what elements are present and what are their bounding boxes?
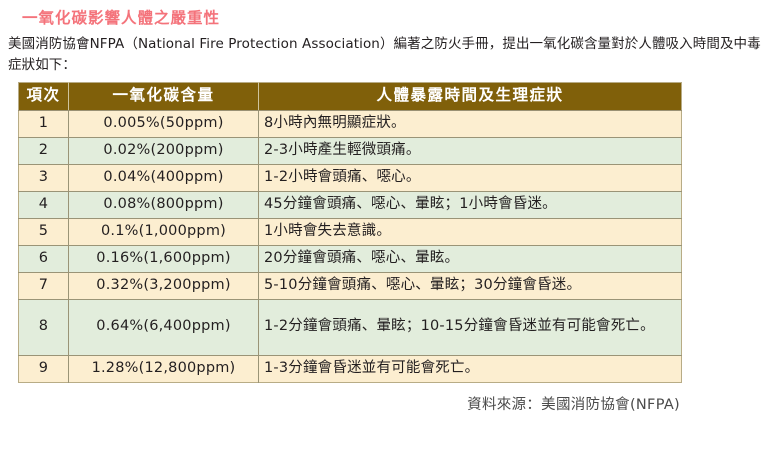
table-row: 8 0.64%(6,400ppm) 1-2分鐘會頭痛、暈眩；10-15分鐘會昏迷… — [19, 299, 682, 355]
table-header-row: 項次 一氧化碳含量 人體暴露時間及生理症狀 — [19, 83, 682, 110]
column-header-symptoms: 人體暴露時間及生理症狀 — [259, 83, 682, 110]
cell-symptoms: 1小時會失去意識。 — [259, 218, 682, 245]
cell-amount: 0.08%(800ppm) — [69, 191, 259, 218]
table-row: 2 0.02%(200ppm) 2-3小時產生輕微頭痛。 — [19, 137, 682, 164]
cell-amount: 0.02%(200ppm) — [69, 137, 259, 164]
cell-index: 1 — [19, 110, 69, 137]
cell-index: 3 — [19, 164, 69, 191]
cell-amount: 0.005%(50ppm) — [69, 110, 259, 137]
cell-index: 8 — [19, 299, 69, 355]
table-row: 7 0.32%(3,200ppm) 5-10分鐘會頭痛、噁心、暈眩；30分鐘會昏… — [19, 272, 682, 299]
document-page: 一氧化碳影響人體之嚴重性 美國消防協會NFPA（National Fire Pr… — [0, 0, 776, 465]
cell-index: 5 — [19, 218, 69, 245]
column-header-amount: 一氧化碳含量 — [69, 83, 259, 110]
cell-symptoms: 5-10分鐘會頭痛、噁心、暈眩；30分鐘會昏迷。 — [259, 272, 682, 299]
cell-index: 2 — [19, 137, 69, 164]
table-row: 9 1.28%(12,800ppm) 1-3分鐘會昏迷並有可能會死亡。 — [19, 355, 682, 382]
cell-index: 4 — [19, 191, 69, 218]
table-row: 5 0.1%(1,000ppm) 1小時會失去意識。 — [19, 218, 682, 245]
intro-paragraph: 美國消防協會NFPA（National Fire Protection Asso… — [0, 28, 776, 76]
table-row: 1 0.005%(50ppm) 8小時內無明顯症狀。 — [19, 110, 682, 137]
cell-amount: 1.28%(12,800ppm) — [69, 355, 259, 382]
cell-symptoms: 2-3小時產生輕微頭痛。 — [259, 137, 682, 164]
source-attribution: 資料來源：美國消防協會(NFPA) — [0, 383, 776, 414]
column-header-index: 項次 — [19, 83, 69, 110]
cell-index: 6 — [19, 245, 69, 272]
table-row: 6 0.16%(1,600ppm) 20分鐘會頭痛、噁心、暈眩。 — [19, 245, 682, 272]
cell-index: 9 — [19, 355, 69, 382]
table-container: 項次 一氧化碳含量 人體暴露時間及生理症狀 1 0.005%(50ppm) 8小… — [0, 76, 776, 383]
cell-amount: 0.1%(1,000ppm) — [69, 218, 259, 245]
cell-symptoms: 1-2小時會頭痛、噁心。 — [259, 164, 682, 191]
table-row: 3 0.04%(400ppm) 1-2小時會頭痛、噁心。 — [19, 164, 682, 191]
cell-amount: 0.16%(1,600ppm) — [69, 245, 259, 272]
table-row: 4 0.08%(800ppm) 45分鐘會頭痛、噁心、暈眩；1小時會昏迷。 — [19, 191, 682, 218]
cell-index: 7 — [19, 272, 69, 299]
cell-amount: 0.04%(400ppm) — [69, 164, 259, 191]
cell-symptoms: 8小時內無明顯症狀。 — [259, 110, 682, 137]
cell-symptoms: 20分鐘會頭痛、噁心、暈眩。 — [259, 245, 682, 272]
table-header: 項次 一氧化碳含量 人體暴露時間及生理症狀 — [19, 83, 682, 110]
cell-symptoms: 1-2分鐘會頭痛、暈眩；10-15分鐘會昏迷並有可能會死亡。 — [259, 299, 682, 355]
cell-symptoms: 1-3分鐘會昏迷並有可能會死亡。 — [259, 355, 682, 382]
co-severity-table: 項次 一氧化碳含量 人體暴露時間及生理症狀 1 0.005%(50ppm) 8小… — [18, 82, 682, 383]
cell-amount: 0.32%(3,200ppm) — [69, 272, 259, 299]
page-title: 一氧化碳影響人體之嚴重性 — [0, 0, 776, 28]
cell-amount: 0.64%(6,400ppm) — [69, 299, 259, 355]
table-body: 1 0.005%(50ppm) 8小時內無明顯症狀。 2 0.02%(200pp… — [19, 110, 682, 382]
cell-symptoms: 45分鐘會頭痛、噁心、暈眩；1小時會昏迷。 — [259, 191, 682, 218]
